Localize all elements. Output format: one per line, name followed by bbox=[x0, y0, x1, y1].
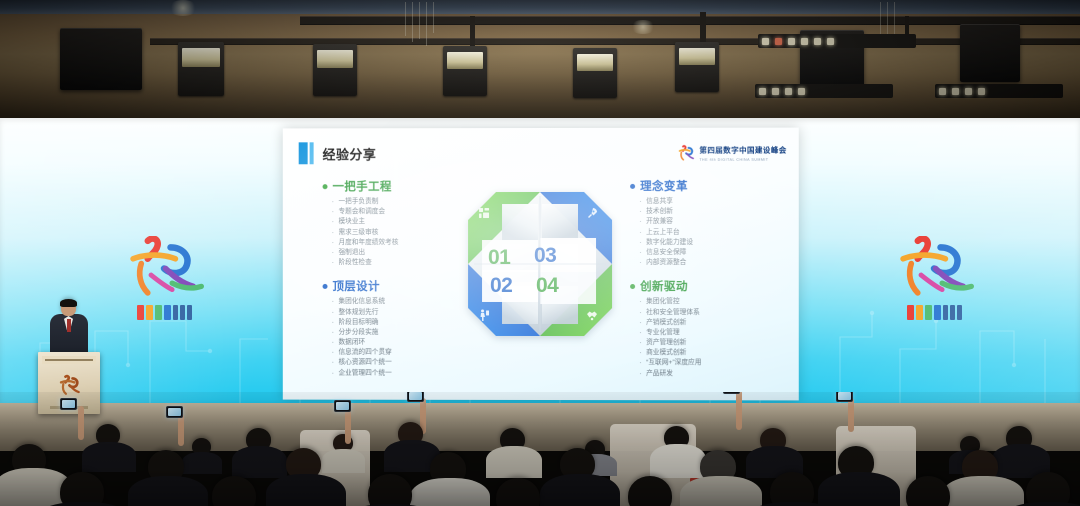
smartphone[interactable] bbox=[723, 392, 740, 394]
slide-block: 创新驱动 集团化管控 社和安全管理体系 产销模式创新 专业化管理 资产管理创新 … bbox=[630, 278, 779, 379]
smartphone[interactable] bbox=[166, 406, 183, 418]
audience-arm bbox=[178, 414, 184, 446]
smartphone[interactable] bbox=[407, 392, 424, 402]
slide-column-left: 一把手工程 一把手负责制 专题会和调度会 模块业主 需求三级审核 月度和年度绩效… bbox=[323, 178, 470, 389]
audience-shoulders bbox=[128, 476, 208, 506]
presenter bbox=[46, 300, 92, 358]
list-item: 数字化能力建设 bbox=[646, 238, 779, 248]
person-presenting-icon bbox=[478, 308, 490, 320]
slide-block-title: 理念变革 bbox=[640, 178, 688, 194]
phone-screen bbox=[336, 402, 349, 410]
projected-slide: 经验分享 第四届数字中国建设峰会 THE 4th DIGITAL CHINA S… bbox=[283, 128, 799, 401]
slide-block: 顶层设计 集团化信息系统 整体规划先行 阶段目标明确 分步分段实施 数据闭环 信… bbox=[323, 278, 470, 378]
slide-column-right: 理念变革 信息共享 技术创新 开放兼容 上云上平台 数字化能力建设 信息安全保障… bbox=[630, 178, 779, 389]
list-item: 核心资源四个统一 bbox=[338, 358, 470, 368]
summit-mark-icon bbox=[677, 144, 694, 163]
slide-brand-logo: 第四届数字中国建设峰会 THE 4th DIGITAL CHINA SUMMIT bbox=[677, 144, 786, 163]
audience-shoulders bbox=[232, 446, 287, 478]
slide-block-heading: 创新驱动 bbox=[630, 278, 779, 294]
list-item: 企业管理四个统一 bbox=[338, 368, 470, 378]
smartphone[interactable] bbox=[334, 400, 351, 412]
audience-shoulders bbox=[410, 478, 490, 506]
list-item: 信息流的四个贯穿 bbox=[338, 348, 470, 358]
list-item: 整体规划先行 bbox=[338, 307, 470, 317]
lectern-sign bbox=[42, 356, 96, 364]
bullet-dot-icon bbox=[630, 284, 635, 289]
slide-block-list: 信息共享 技术创新 开放兼容 上云上平台 数字化能力建设 信息安全保障 内部资源… bbox=[630, 197, 779, 269]
slide-block-title: 顶层设计 bbox=[333, 278, 380, 294]
handshake-icon bbox=[586, 308, 598, 320]
list-item: 集团化信息系统 bbox=[338, 297, 470, 307]
slide-block-title: 创新驱动 bbox=[640, 278, 688, 294]
slide-block-title: 一把手工程 bbox=[333, 178, 392, 194]
slide-brand-line1: 第四届数字中国建设峰会 bbox=[699, 145, 786, 156]
slide-header: 经验分享 bbox=[299, 142, 377, 164]
slide-block: 一把手工程 一把手负责制 专题会和调度会 模块业主 需求三级审核 月度和年度绩效… bbox=[323, 178, 470, 268]
slide-block-heading: 一把手工程 bbox=[323, 178, 470, 194]
slide-block-list: 集团化管控 社和安全管理体系 产销模式创新 专业化管理 资产管理创新 商业模式创… bbox=[630, 297, 779, 379]
list-item: 一把手负责制 bbox=[338, 197, 470, 207]
phone-screen bbox=[409, 392, 422, 400]
audience-arm bbox=[78, 406, 84, 440]
list-item: 信息共享 bbox=[646, 197, 779, 207]
bullet-dot-icon bbox=[323, 184, 328, 189]
slide-block-list: 集团化信息系统 整体规划先行 阶段目标明确 分步分段实施 数据闭环 信息流的四个… bbox=[323, 297, 470, 378]
audience-shoulders bbox=[322, 449, 365, 473]
list-item: 分步分段实施 bbox=[338, 328, 470, 338]
diagram-number-04: 04 bbox=[536, 274, 558, 298]
audience-shoulders bbox=[82, 442, 136, 472]
list-item: 集团化管控 bbox=[646, 297, 779, 307]
rocket-icon bbox=[586, 206, 598, 218]
list-item: 上云上平台 bbox=[646, 227, 779, 237]
audience-head bbox=[906, 476, 950, 506]
audience-shoulders bbox=[540, 474, 620, 506]
list-item: 商业模式创新 bbox=[646, 348, 779, 358]
audience-head bbox=[1026, 472, 1070, 506]
list-item: 月度和年度绩效考核 bbox=[338, 238, 470, 248]
audience-shoulders bbox=[182, 452, 222, 474]
audience-arm bbox=[848, 398, 854, 432]
bullet-dot-icon bbox=[323, 284, 328, 289]
audience-arm bbox=[736, 392, 742, 430]
conference-stage-scene: 经验分享 第四届数字中国建设峰会 THE 4th DIGITAL CHINA S… bbox=[0, 0, 1080, 506]
slide-block-heading: 理念变革 bbox=[630, 178, 779, 194]
audience-shoulders bbox=[650, 444, 706, 478]
presenter-hair bbox=[60, 299, 77, 307]
diagram-number-03: 03 bbox=[534, 244, 556, 268]
list-item: 模块业主 bbox=[338, 217, 470, 227]
audience-arm bbox=[345, 410, 351, 444]
list-item: 数据闭环 bbox=[338, 338, 470, 348]
slide-brand-line2: THE 4th DIGITAL CHINA SUMMIT bbox=[699, 158, 786, 162]
list-item: 信息安全保障 bbox=[646, 248, 779, 258]
list-item: 需求三级审核 bbox=[338, 228, 470, 238]
list-item: 阶段目标明确 bbox=[338, 318, 470, 328]
ceiling-vignette bbox=[0, 0, 1080, 118]
audience-shoulders bbox=[266, 474, 346, 506]
lectern-sign-text bbox=[45, 359, 93, 361]
double-bar-icon bbox=[299, 142, 314, 164]
list-item: 产销模式创新 bbox=[646, 318, 779, 328]
presenter-tie bbox=[67, 319, 71, 332]
audience-head bbox=[496, 478, 540, 506]
bullet-dot-icon bbox=[630, 183, 635, 188]
smartphone[interactable] bbox=[836, 392, 853, 402]
slide-block-heading: 顶层设计 bbox=[323, 278, 470, 294]
list-item: 社和安全管理体系 bbox=[646, 308, 779, 318]
slide-brand-text: 第四届数字中国建设峰会 THE 4th DIGITAL CHINA SUMMIT bbox=[699, 145, 786, 162]
phone-screen bbox=[838, 392, 851, 400]
diagram-number-02: 02 bbox=[490, 274, 512, 298]
smartphone[interactable] bbox=[60, 398, 77, 410]
audience bbox=[0, 392, 1080, 506]
audience-shoulders bbox=[486, 446, 542, 478]
phone-screen bbox=[62, 400, 75, 408]
list-item: 专题会和调度会 bbox=[338, 207, 470, 217]
list-item: 开放兼容 bbox=[646, 217, 779, 227]
grid-modules-icon bbox=[478, 206, 490, 218]
audience-head bbox=[212, 476, 256, 506]
slide-block: 理念变革 信息共享 技术创新 开放兼容 上云上平台 数字化能力建设 信息安全保障… bbox=[630, 178, 779, 269]
list-item: “互联网+”深度应用 bbox=[646, 359, 779, 369]
audience-head bbox=[770, 472, 814, 506]
list-item: 专业化管理 bbox=[646, 328, 779, 338]
slide-block-list: 一把手负责制 专题会和调度会 模块业主 需求三级审核 月度和年度绩效考核 强制退… bbox=[323, 197, 470, 268]
list-item: 技术创新 bbox=[646, 207, 779, 217]
list-item: 阶段性检查 bbox=[338, 258, 470, 268]
audience-shoulders bbox=[942, 476, 1024, 506]
octagon-four-quadrant-diagram: 01 03 02 04 bbox=[462, 186, 618, 342]
list-item: 内部资源整合 bbox=[646, 258, 779, 268]
audience-shoulders bbox=[680, 476, 762, 506]
list-item: 强制退出 bbox=[338, 248, 470, 258]
ceiling bbox=[0, 0, 1080, 118]
audience-head bbox=[60, 472, 104, 506]
list-item: 产品研发 bbox=[646, 369, 779, 379]
diagram-number-01: 01 bbox=[488, 246, 510, 270]
list-item: 资产管理创新 bbox=[646, 338, 779, 348]
audience-shoulders bbox=[818, 472, 900, 506]
audience-head bbox=[368, 474, 412, 506]
phone-screen bbox=[168, 408, 181, 416]
slide-title: 经验分享 bbox=[323, 144, 377, 163]
